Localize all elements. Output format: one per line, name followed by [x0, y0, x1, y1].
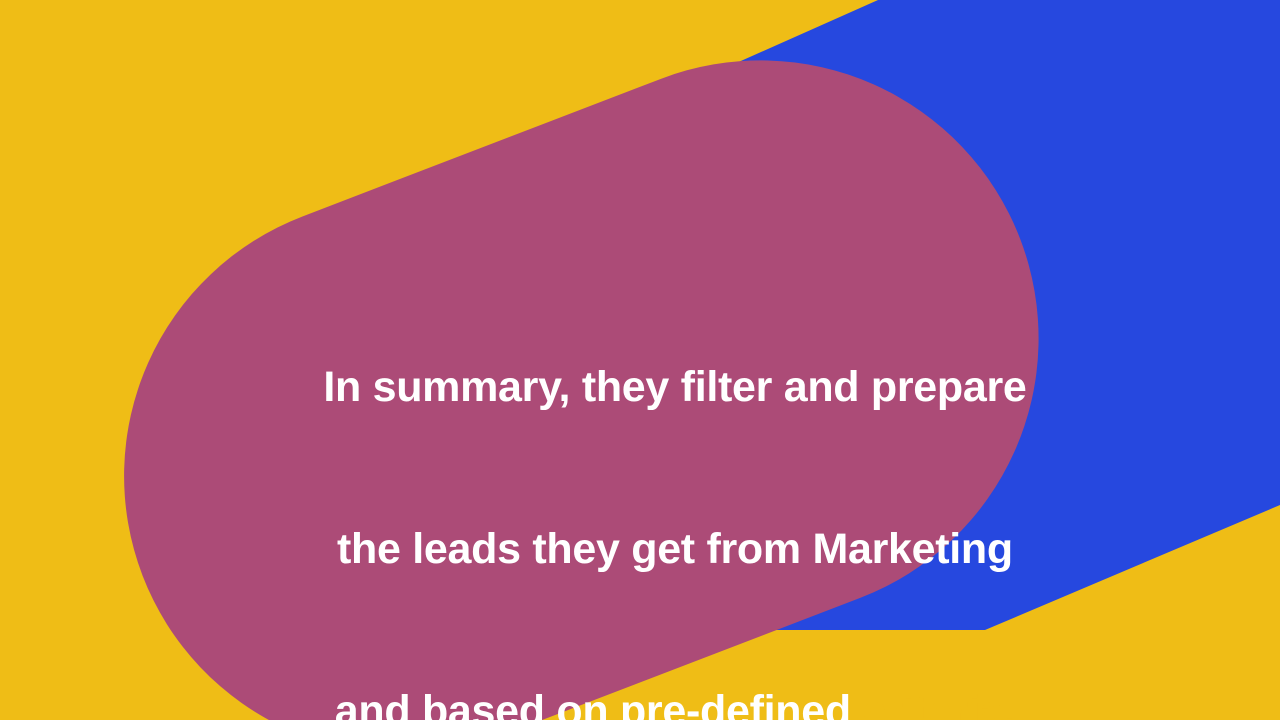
- caption-line-2: the leads they get from Marketing: [0, 468, 1280, 630]
- caption-line-2-text: the leads they get from Marketing: [337, 525, 1013, 573]
- slide-canvas: In summary, they filter and prepare the …: [0, 0, 1280, 720]
- caption-line-3: and based on pre-defined criteria,: [0, 630, 1280, 720]
- caption-line-1-text: In summary, they filter and prepare: [323, 363, 1026, 411]
- caption-block: In summary, they filter and prepare the …: [0, 306, 1280, 720]
- caption-line-1: In summary, they filter and prepare: [0, 306, 1280, 468]
- caption-line-3-highlight: criteria,: [862, 687, 1015, 720]
- caption-line-3-text: and based on pre-defined: [335, 687, 863, 720]
